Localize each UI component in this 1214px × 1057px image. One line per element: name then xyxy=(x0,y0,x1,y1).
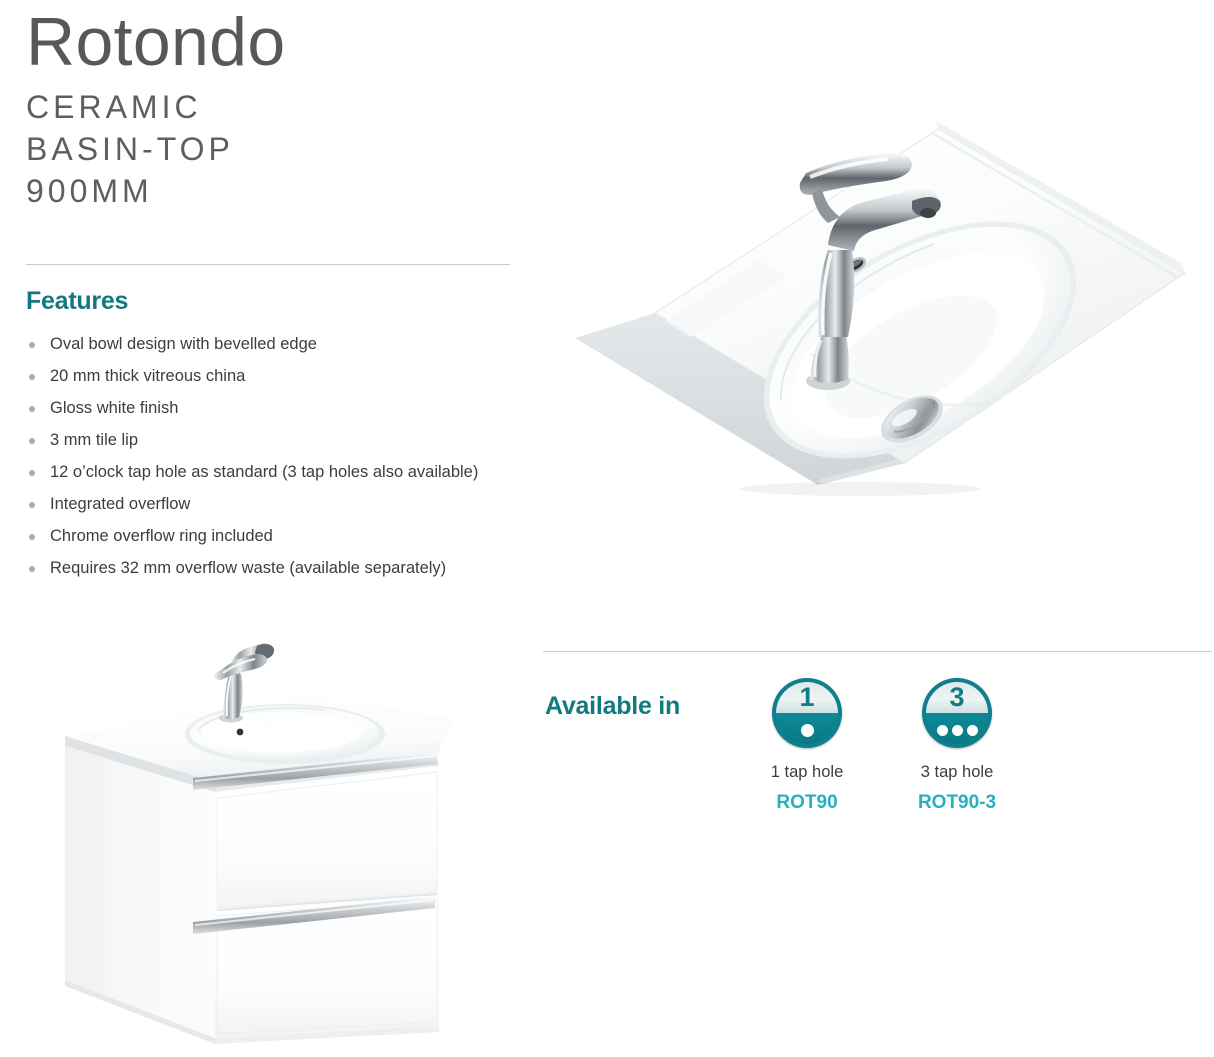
badge-number: 3 xyxy=(922,679,992,714)
vanity-unit-product-image xyxy=(45,630,495,1055)
bullet-icon xyxy=(29,470,35,476)
feature-text: Chrome overflow ring included xyxy=(50,527,273,545)
feature-text: Oval bowl design with bevelled edge xyxy=(50,335,317,353)
bullet-icon xyxy=(29,502,35,508)
feature-list: Oval bowl design with bevelled edge 20 m… xyxy=(26,336,546,577)
feature-text: 20 mm thick vitreous china xyxy=(50,367,245,385)
feature-text: Requires 32 mm overflow waste (available… xyxy=(50,559,446,577)
badge-number: 1 xyxy=(772,679,842,714)
subtitle-line-2: BASIN-TOP xyxy=(26,128,526,170)
feature-text: 12 o’clock tap hole as standard (3 tap h… xyxy=(50,463,478,481)
product-code: ROT90 xyxy=(732,793,882,812)
feature-text: 3 mm tile lip xyxy=(50,431,138,449)
page-title: Rotondo xyxy=(26,8,526,76)
basin-top-product-image xyxy=(560,85,1200,510)
three-tap-hole-badge-icon: 3 xyxy=(922,678,992,748)
product-title-block: Rotondo CERAMIC BASIN-TOP 900MM xyxy=(26,8,526,213)
option-caption: 1 tap hole xyxy=(732,764,882,781)
bullet-icon xyxy=(29,406,35,412)
tap-hole-option-3[interactable]: 3 3 tap hole ROT90-3 xyxy=(882,678,1032,812)
list-item: Oval bowl design with bevelled edge xyxy=(26,336,546,353)
features-section: Features Oval bowl design with bevelled … xyxy=(26,287,546,592)
features-heading: Features xyxy=(26,287,546,316)
list-item: 3 mm tile lip xyxy=(26,432,546,449)
bullet-icon xyxy=(29,438,35,444)
list-item: Gloss white finish xyxy=(26,400,546,417)
list-item: 12 o’clock tap hole as standard (3 tap h… xyxy=(26,464,546,481)
list-item: Requires 32 mm overflow waste (available… xyxy=(26,560,546,577)
list-item: Chrome overflow ring included xyxy=(26,528,546,545)
bullet-icon xyxy=(29,342,35,348)
list-item: 20 mm thick vitreous china xyxy=(26,368,546,385)
bullet-icon xyxy=(29,566,35,572)
bullet-icon xyxy=(29,534,35,540)
feature-text: Integrated overflow xyxy=(50,495,190,513)
list-item: Integrated overflow xyxy=(26,496,546,513)
tap-hole-option-1[interactable]: 1 1 tap hole ROT90 xyxy=(732,678,882,812)
tap-hole-dots-icon xyxy=(922,713,992,748)
tap-hole-dots-icon xyxy=(772,713,842,748)
bullet-icon xyxy=(29,374,35,380)
feature-text: Gloss white finish xyxy=(50,399,178,417)
one-tap-hole-badge-icon: 1 xyxy=(772,678,842,748)
available-divider xyxy=(543,651,1212,652)
subtitle-line-1: CERAMIC xyxy=(26,86,526,128)
available-in-section: Available in 1 1 tap hole ROT90 3 xyxy=(545,678,1032,812)
available-in-heading: Available in xyxy=(545,692,680,721)
subtitle-line-3: 900MM xyxy=(26,170,526,212)
tap-hole-options: 1 1 tap hole ROT90 3 3 tap hole ROT90-3 xyxy=(732,678,1032,812)
title-divider xyxy=(26,264,510,265)
option-caption: 3 tap hole xyxy=(882,764,1032,781)
product-subtitle: CERAMIC BASIN-TOP 900MM xyxy=(26,86,526,213)
product-code: ROT90-3 xyxy=(882,793,1032,812)
